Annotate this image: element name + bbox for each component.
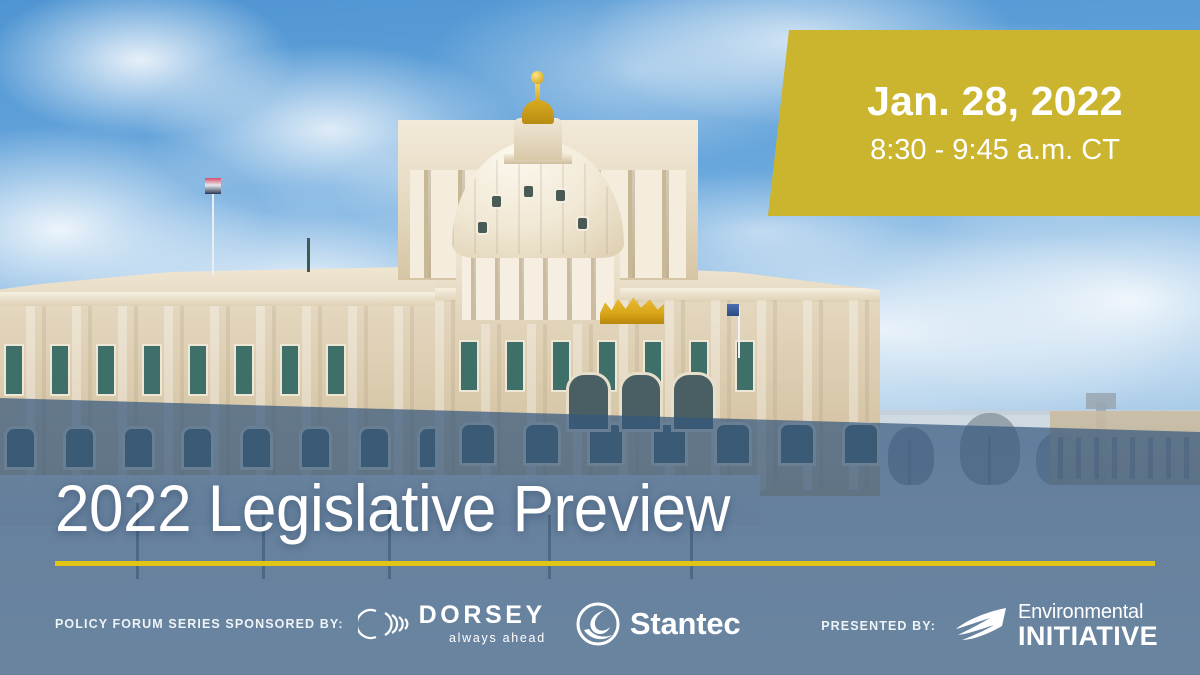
sponsors-group: POLICY FORUM SERIES SPONSORED BY: DORSEY… (55, 602, 740, 646)
dorsey-tagline: always ahead (449, 632, 546, 645)
stantec-leaf-icon (576, 602, 620, 646)
environmental-initiative-wing-icon (950, 605, 1008, 647)
title-underline-rule (55, 561, 1155, 566)
dome-lantern (514, 118, 562, 160)
event-time: 8:30 - 9:45 a.m. CT (870, 136, 1120, 165)
stantec-logo: Stantec (576, 602, 741, 646)
dorsey-arcs-icon (358, 607, 410, 641)
footer: POLICY FORUM SERIES SPONSORED BY: DORSEY… (0, 580, 1200, 675)
flag-secondary-icon (727, 304, 739, 316)
flagpole (212, 180, 214, 276)
dorsey-logo: DORSEY always ahead (358, 603, 546, 645)
stantec-wordmark: Stantec (630, 606, 741, 642)
roof-spire (307, 238, 310, 272)
presenter-group: PRESENTED BY: Environmental INITIATIVE (821, 602, 1158, 650)
environmental-initiative-logo: Environmental INITIATIVE (950, 602, 1158, 650)
event-promo-graphic: Jan. 28, 2022 8:30 - 9:45 a.m. CT 2022 L… (0, 0, 1200, 675)
gold-finial-icon (535, 78, 540, 104)
ei-line-2: INITIATIVE (1018, 623, 1158, 650)
presented-by-label: PRESENTED BY: (821, 619, 936, 633)
page-title: 2022 Legislative Preview (55, 470, 730, 546)
sponsor-label: POLICY FORUM SERIES SPONSORED BY: (55, 617, 344, 631)
flag-icon (205, 178, 221, 194)
event-date-badge: Jan. 28, 2022 8:30 - 9:45 a.m. CT (768, 30, 1200, 216)
dorsey-wordmark: DORSEY (419, 603, 546, 628)
ei-line-1: Environmental (1018, 602, 1158, 622)
event-date: Jan. 28, 2022 (867, 81, 1123, 122)
